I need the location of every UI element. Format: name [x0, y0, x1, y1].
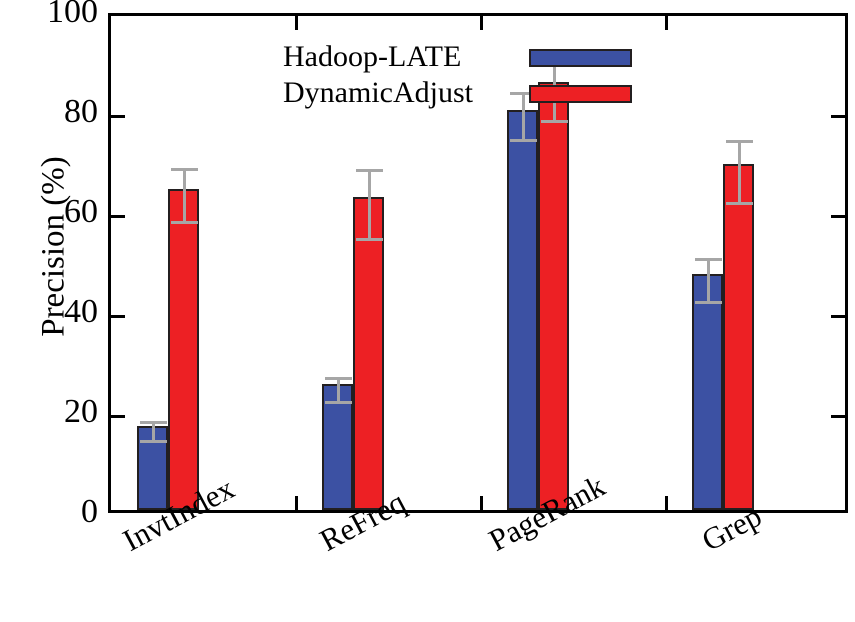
- y-axis-tick: [831, 415, 845, 418]
- bar-refreq-dynamicadjust: [353, 197, 384, 510]
- error-bar-line: [738, 140, 741, 202]
- y-tick-label: 80: [0, 95, 98, 129]
- chart-legend: Hadoop-LATE DynamicAdjust: [283, 40, 643, 116]
- chart-figure: Precision (%) 020406080100 Hadoop-LATE D…: [0, 0, 855, 622]
- error-bar-cap-upper: [726, 140, 753, 143]
- y-axis-tick: [831, 115, 845, 118]
- bar-invtindex-dynamicadjust: [168, 189, 199, 510]
- error-bar-cap-upper: [171, 168, 198, 171]
- y-axis-tick: [831, 315, 845, 318]
- bar-grep-hadoop-late: [692, 274, 723, 510]
- error-bar-cap-lower: [726, 202, 753, 205]
- error-bar-cap-lower: [541, 120, 568, 123]
- error-bar-cap-upper: [140, 421, 167, 424]
- error-bar-cap-lower: [325, 401, 352, 404]
- legend-item-dynamicadjust: DynamicAdjust: [283, 76, 643, 110]
- y-axis-tick: [831, 215, 845, 218]
- y-tick-label: 20: [0, 395, 98, 429]
- legend-item-hadoop-late: Hadoop-LATE: [283, 40, 643, 74]
- bar-pagerank-dynamicadjust: [538, 82, 569, 510]
- bar-grep-dynamicadjust: [723, 164, 754, 510]
- error-bar-cap-upper: [325, 377, 352, 380]
- error-bar-cap-upper: [356, 169, 383, 172]
- x-axis-tick: [665, 16, 668, 30]
- error-bar-line: [368, 169, 371, 238]
- x-axis-tick: [480, 496, 483, 510]
- y-tick-label: 0: [0, 495, 98, 529]
- error-bar-cap-upper: [695, 258, 722, 261]
- x-axis-tick: [295, 496, 298, 510]
- y-tick-label: 40: [0, 295, 98, 329]
- y-tick-label: 100: [0, 0, 98, 29]
- y-axis-tick: [111, 415, 125, 418]
- y-axis-tick: [111, 315, 125, 318]
- error-bar-line: [707, 258, 710, 301]
- x-axis-tick: [480, 16, 483, 30]
- y-axis-tick: [111, 115, 125, 118]
- error-bar-line: [337, 377, 340, 401]
- error-bar-cap-lower: [510, 139, 537, 142]
- x-axis-tick: [665, 496, 668, 510]
- x-axis-tick: [295, 16, 298, 30]
- error-bar-cap-lower: [695, 301, 722, 304]
- error-bar-cap-lower: [140, 440, 167, 443]
- legend-swatch-dynamicadjust: [529, 85, 632, 103]
- y-axis-tick-labels: 020406080100: [0, 0, 104, 622]
- bar-pagerank-hadoop-late: [507, 110, 538, 510]
- error-bar-cap-lower: [356, 238, 383, 241]
- y-axis-tick: [111, 215, 125, 218]
- plot-area: Hadoop-LATE DynamicAdjust: [108, 13, 848, 513]
- y-tick-label: 60: [0, 195, 98, 229]
- legend-label: Hadoop-LATE: [283, 40, 461, 74]
- legend-label: DynamicAdjust: [283, 76, 473, 110]
- error-bar-cap-lower: [171, 221, 198, 224]
- error-bar-line: [183, 168, 186, 221]
- legend-swatch-hadoop-late: [529, 49, 632, 67]
